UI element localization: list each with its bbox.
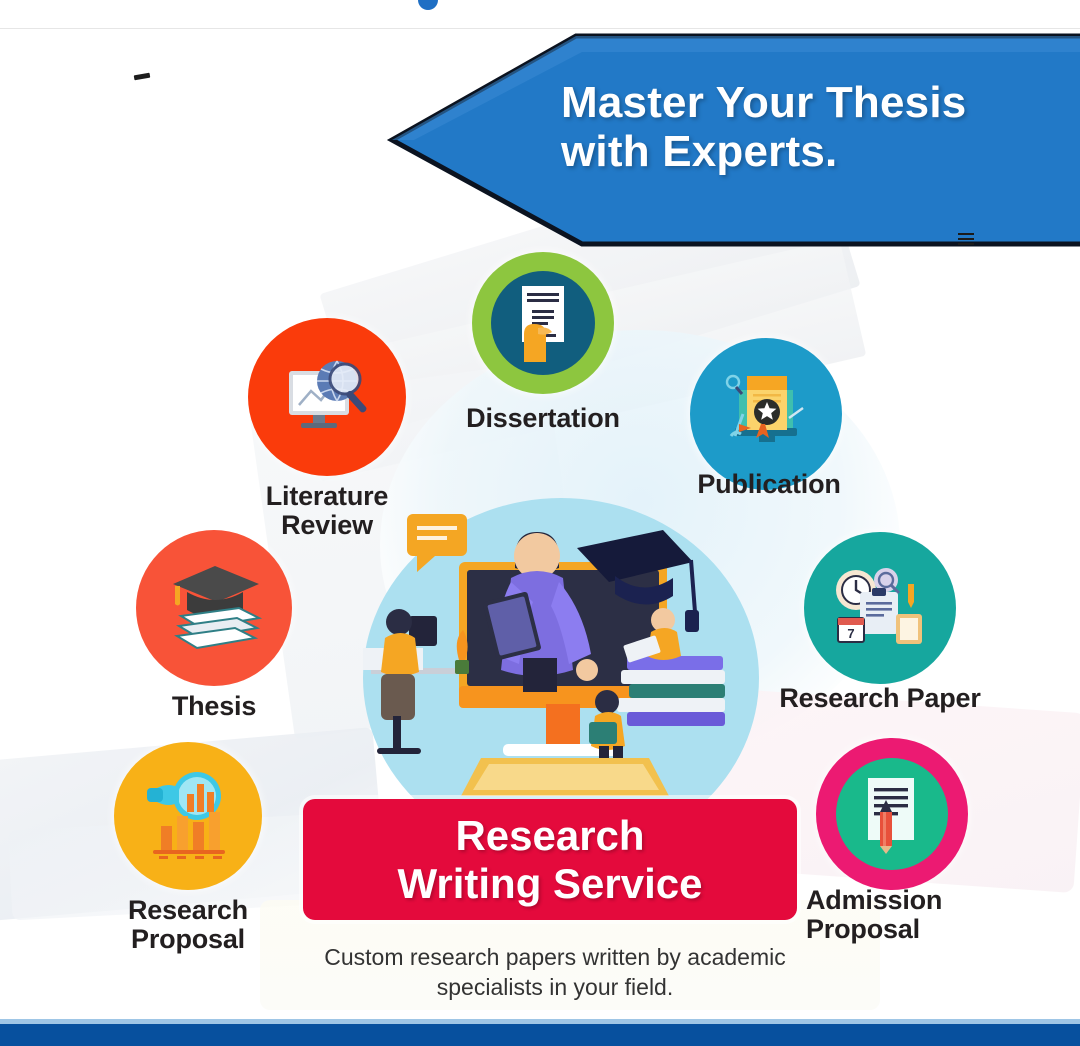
graduation-cap-books-icon [161, 560, 267, 656]
publication-label: Publication [682, 470, 856, 499]
top-divider-line [0, 28, 1080, 29]
dissertation-inner-disc [491, 271, 595, 375]
dissertation-label: Dissertation [436, 404, 650, 433]
svg-text:7: 7 [847, 626, 854, 641]
magnifier-bar-chart-icon [139, 770, 237, 862]
monitor-globe-magnifier-icon [279, 349, 375, 445]
clock-clipboard-calendar-icon: 7 [830, 562, 930, 654]
admission-proposal-circle[interactable] [816, 738, 968, 890]
document-pencil-icon [854, 774, 930, 854]
thesis-circle[interactable] [136, 530, 292, 686]
research-paper-circle[interactable]: 7 [804, 532, 956, 684]
ribbon-edge-marks [958, 233, 974, 249]
admission-proposal-label: Admission Proposal [806, 886, 986, 943]
dissertation-circle[interactable] [472, 252, 614, 394]
research-proposal-circle[interactable] [114, 742, 262, 890]
monitor-award-certificate-icon [717, 368, 815, 460]
infographic-canvas: Master Your Thesis with Experts. [0, 0, 1080, 1046]
cta-banner[interactable]: Research Writing Service [303, 799, 797, 920]
caption-text: Custom research papers written by academ… [245, 942, 865, 1003]
thesis-label: Thesis [130, 692, 298, 721]
header-ribbon: Master Your Thesis with Experts. [386, 36, 1080, 244]
literature-review-circle[interactable] [248, 318, 406, 476]
cta-title: Research Writing Service [398, 812, 703, 906]
hand-holding-document-icon [508, 284, 578, 362]
literature-review-label: Literature Review [232, 482, 422, 539]
publication-circle[interactable] [690, 338, 842, 490]
footer-bar [0, 1024, 1080, 1046]
research-paper-label: Research Paper [768, 684, 992, 713]
banner-headline: Master Your Thesis with Experts. [561, 78, 1061, 177]
admission-proposal-inner-disc [836, 758, 948, 870]
